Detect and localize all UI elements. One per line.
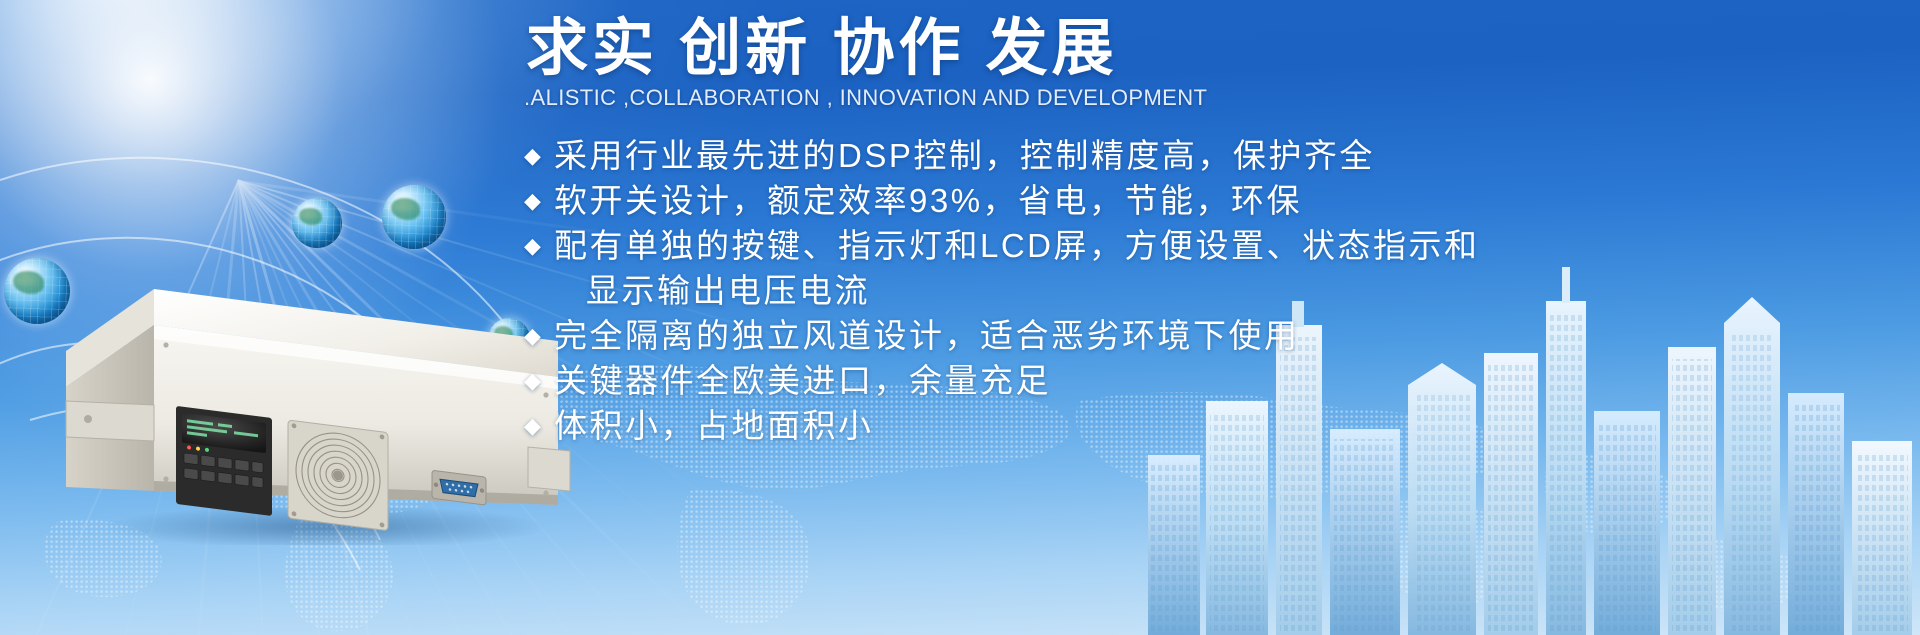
feature-item: ◆体积小，占地面积小 [524,403,1678,448]
feature-item-label: 完全隔离的独立风道设计，适合恶劣环境下使用 [554,313,1300,358]
page-title: 求实 创新 协作 发展 [518,16,1678,81]
feature-item: ◆关键器件全欧美进口，余量充足 [524,358,1678,403]
banner-copy: 求实 创新 协作 发展 .ALISTIC ,COLLABORATION , IN… [518,16,1678,448]
feature-item: ◆软开关设计，额定效率93%，省电，节能，环保 [524,178,1678,223]
feature-item-label: 软开关设计，额定效率93%，省电，节能，环保 [554,178,1302,223]
feature-item-label: 体积小，占地面积小 [554,403,874,448]
feature-item: ◆配有单独的按键、指示灯和LCD屏，方便设置、状态指示和 [524,223,1678,268]
globe-icon [292,198,342,248]
diamond-bullet-icon: ◆ [524,313,554,358]
diamond-bullet-icon: ◆ [524,223,554,268]
page-subtitle: .ALISTIC ,COLLABORATION , INNOVATION AND… [518,85,1678,111]
feature-item-label: 显示输出电压电流 [586,268,870,313]
feature-list: ◆采用行业最先进的DSP控制，控制精度高，保护齐全◆软开关设计，额定效率93%，… [518,133,1678,448]
diamond-bullet-icon: ◆ [524,178,554,223]
diamond-bullet-icon: ◆ [524,403,554,448]
feature-item-label: 采用行业最先进的DSP控制，控制精度高，保护齐全 [554,133,1375,178]
promo-banner: 求实 创新 协作 发展 .ALISTIC ,COLLABORATION , IN… [0,0,1920,635]
feature-item-continuation: ◆显示输出电压电流 [524,268,1678,313]
globe-icon [382,185,446,249]
feature-item-label: 配有单独的按键、指示灯和LCD屏，方便设置、状态指示和 [554,223,1480,268]
diamond-bullet-icon: ◆ [524,133,554,178]
product-image-rack-power-supply [58,255,578,545]
feature-item: ◆采用行业最先进的DSP控制，控制精度高，保护齐全 [524,133,1678,178]
feature-item-label: 关键器件全欧美进口，余量充足 [554,358,1051,403]
diamond-bullet-icon: ◆ [524,358,554,403]
feature-item: ◆完全隔离的独立风道设计，适合恶劣环境下使用 [524,313,1678,358]
